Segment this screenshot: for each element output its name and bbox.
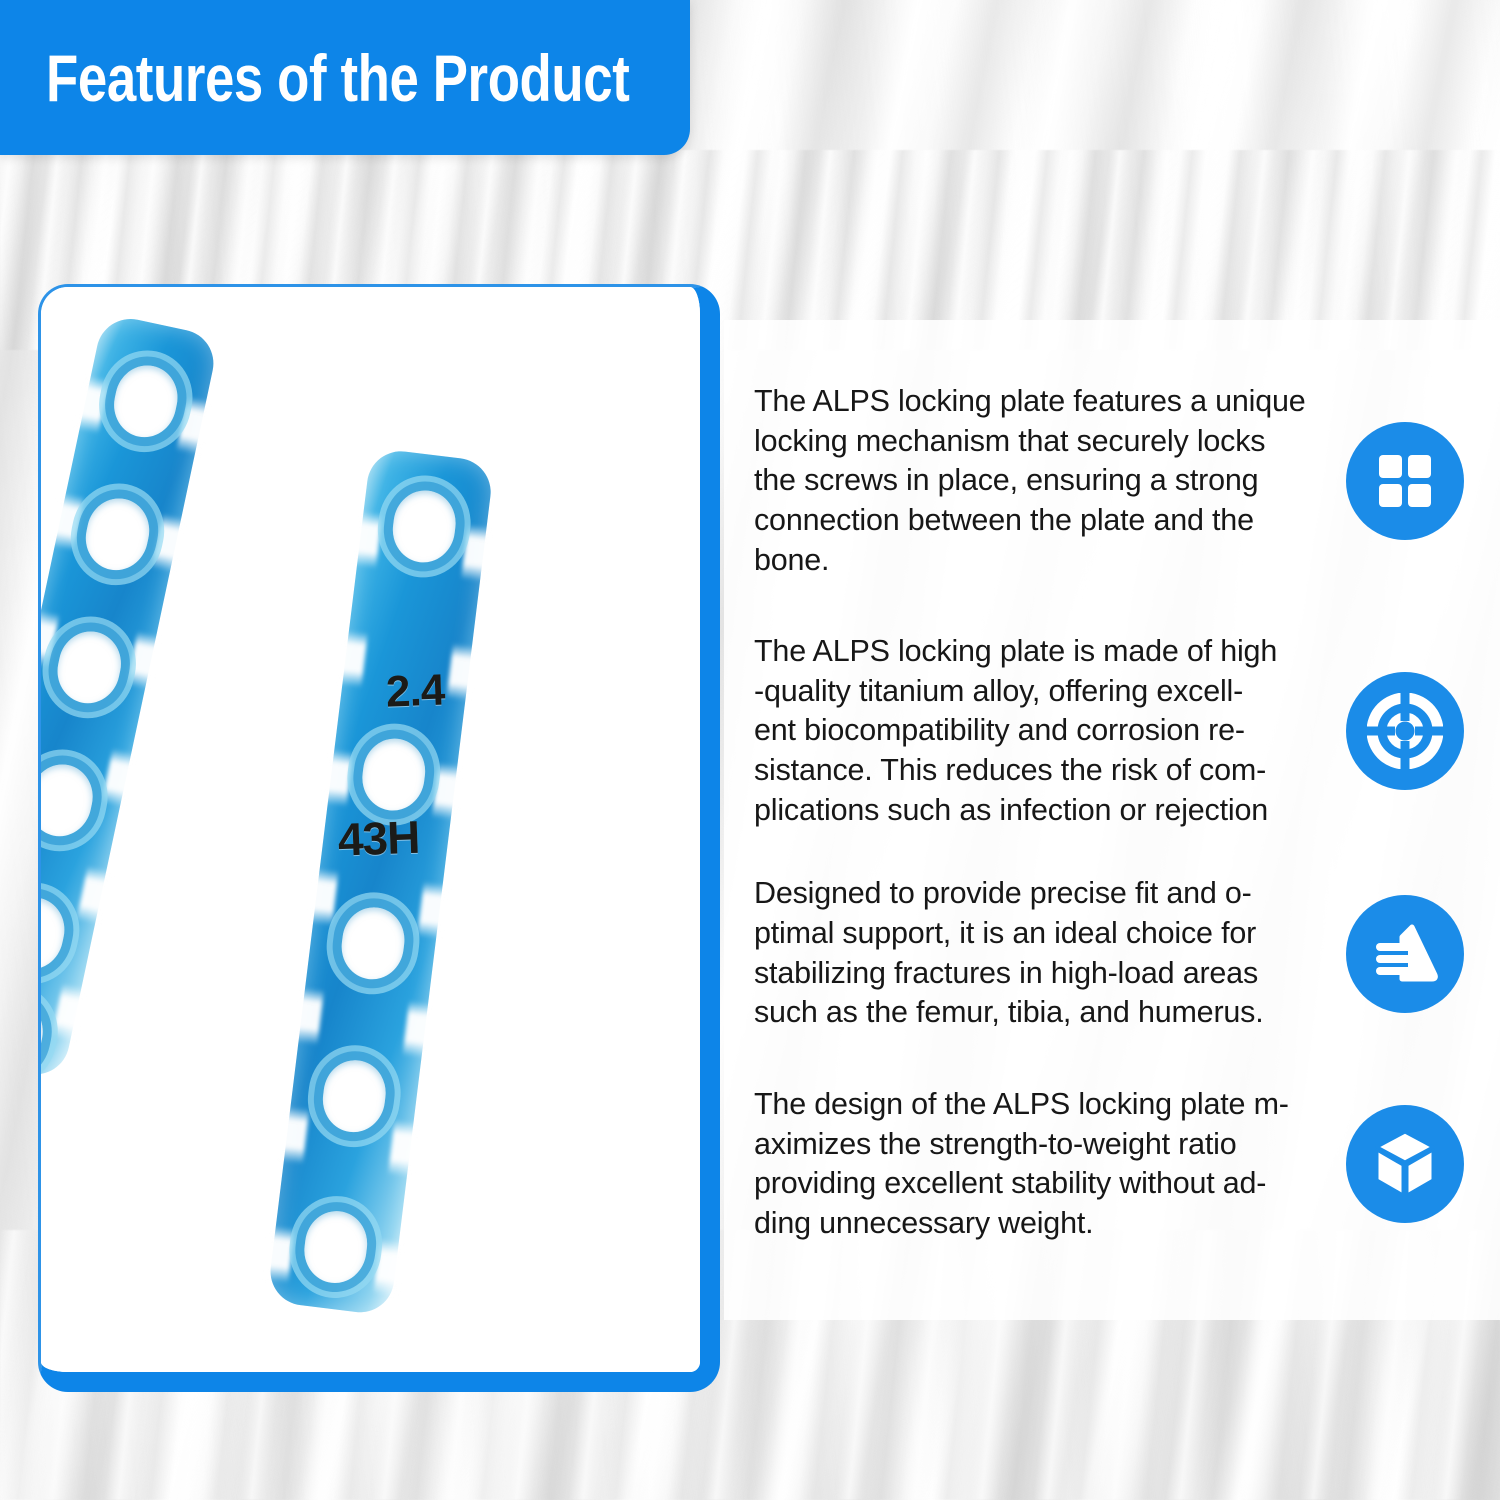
product-photo: 2.4 43H [41, 287, 700, 1372]
feature-1-text: The ALPS locking plate features a unique… [754, 382, 1324, 580]
plate-marking-code: 43H [337, 810, 420, 867]
infographic-canvas: Features of the Product [0, 0, 1500, 1500]
screw-hole [51, 626, 127, 709]
feature-item-4: The design of the ALPS locking plate m- … [724, 1085, 1500, 1244]
screw-hole [319, 1057, 389, 1136]
feature-item-3: Designed to provide precise fit and o- p… [724, 874, 1500, 1033]
feature-2-text: The ALPS locking plate is made of high -… [754, 632, 1324, 830]
screw-hole [359, 735, 429, 814]
triangle-layers-icon [1346, 895, 1464, 1013]
feature-4-text: The design of the ALPS locking plate m- … [754, 1085, 1324, 1244]
page-title: Features of the Product [46, 45, 629, 111]
screw-hole [80, 493, 156, 576]
feature-item-2: The ALPS locking plate is made of high -… [724, 632, 1500, 830]
feature-item-1: The ALPS locking plate features a unique… [724, 382, 1500, 580]
grid-four-squares-icon [1346, 422, 1464, 540]
locking-plate-right: 2.4 43H [267, 447, 495, 1316]
feature-3-text: Designed to provide precise fit and o- p… [754, 874, 1324, 1033]
header-banner: Features of the Product [0, 0, 690, 155]
feature-list: The ALPS locking plate features a unique… [724, 320, 1500, 1244]
screw-hole [41, 892, 70, 975]
product-image-card: 2.4 43H [38, 284, 720, 1392]
cube-3d-icon [1346, 1105, 1464, 1223]
screw-hole [389, 487, 459, 566]
screw-hole [301, 1208, 371, 1287]
target-crosshair-icon [1346, 672, 1464, 790]
screw-hole [108, 360, 184, 443]
plate-right-notches-left [260, 447, 391, 1304]
plate-right-notches-right [371, 460, 502, 1317]
plate-marking-size: 2.4 [385, 666, 445, 718]
locking-plate-left [41, 313, 220, 1081]
screw-hole [338, 904, 408, 983]
screw-hole [41, 759, 99, 842]
